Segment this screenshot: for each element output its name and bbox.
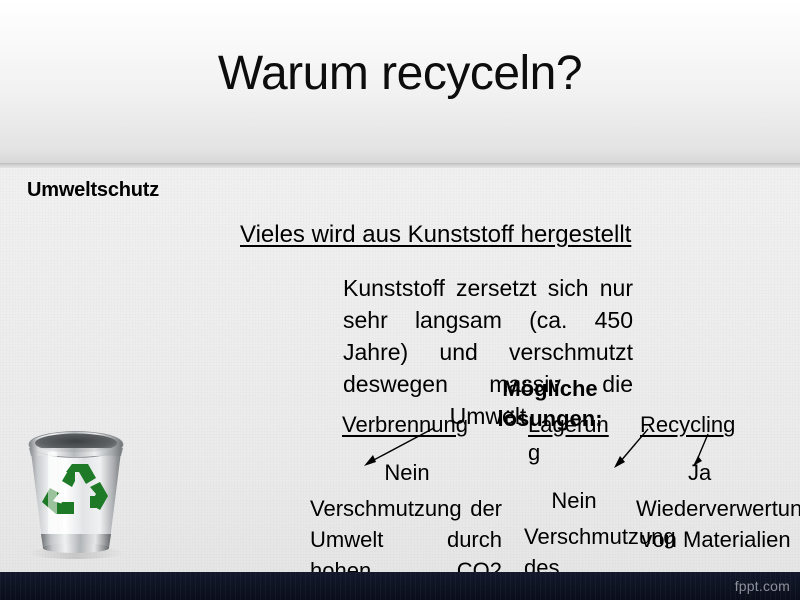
- solution-answer-lagerung: Nein: [528, 487, 620, 515]
- solution-answer-recycling: Ja: [640, 459, 790, 487]
- main-headline: Vieles wird aus Kunststoff hergestellt: [240, 221, 631, 249]
- bin-rim-band: [29, 448, 123, 456]
- slide-title: Warum recyceln?: [0, 44, 800, 104]
- recycle-bin-icon: [14, 418, 138, 562]
- header-divider: [0, 163, 800, 168]
- section-label: Umweltschutz: [27, 179, 159, 202]
- solution-answer-verbrennung: Nein: [342, 459, 472, 487]
- solution-title-verbrennung: Verbrennung: [342, 411, 472, 439]
- bin-highlight: [48, 452, 57, 534]
- solution-title-lagerung: Lagerung: [528, 411, 620, 467]
- solution-title-recycling: Recycling: [640, 411, 790, 439]
- footer-bar: [0, 572, 800, 600]
- watermark: fppt.com: [735, 578, 790, 594]
- bin-body: [30, 444, 122, 540]
- solution-body-recycling: Wiederverwertung von Materialien: [636, 493, 796, 555]
- presentation-slide: Warum recyceln? Umweltschutz Vieles wird…: [0, 0, 800, 600]
- solution-column-recycling: Recycling Ja Wiederverwertung von Materi…: [640, 411, 790, 555]
- bin-base-ellipse: [43, 543, 109, 553]
